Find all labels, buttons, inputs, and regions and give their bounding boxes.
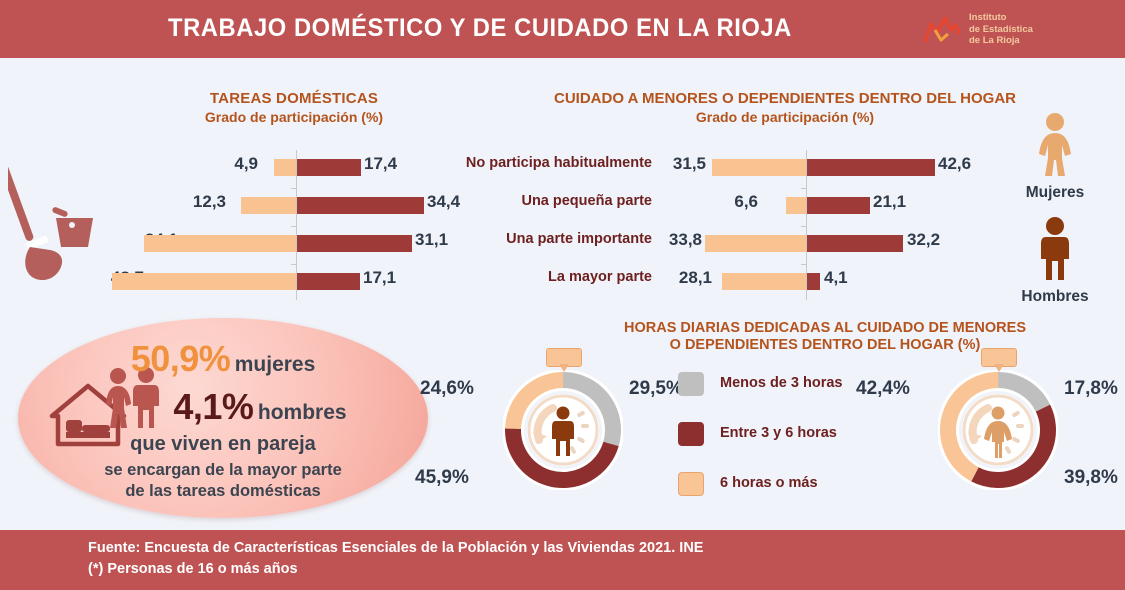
legend-label-menos3: Menos de 3 horas [720,375,842,391]
donut-chart-hombres: 24,6% 29,5% 45,9% [503,370,623,490]
donut-mujeres-svg [938,370,1058,490]
bar-row: 34,1 31,1 [120,226,440,260]
bar-chart-tareas-domesticas: 4,9 17,4 12,3 34,4 34,1 31,1 48,7 17,1 [120,148,440,303]
page-header: TRABAJO DOMÉSTICO Y DE CUIDADO EN LA RIO… [0,0,1125,58]
bar-value-women: 12,3 [150,192,226,212]
callout-word-men: hombres [258,401,347,424]
bar-category-label: La mayor parte [430,269,652,285]
chart-subtitle-tareas: Grado de participación (%) [134,109,454,125]
chart-title-tareas-main: TAREAS DOMÉSTICAS [134,90,454,107]
logo: Instituto de Estadística de La Rioja [923,12,1053,48]
callout-word-women: mujeres [235,353,316,376]
legend-swatch-entre36 [678,422,704,446]
logo-line-2: de Estadística [969,24,1033,36]
callout-line-4a: se encargan de la mayor parte [18,460,428,481]
bar-value-men: 21,1 [873,192,906,212]
donut-marker-tag [981,348,1017,367]
bar-men [807,273,820,290]
chart-title-horas-line1: HORAS DIARIAS DEDICADAS AL CUIDADO DE ME… [560,320,1090,337]
bar-men [297,273,360,290]
legend-label-6mas: 6 horas o más [720,475,818,491]
bar-women [712,159,806,176]
bar-row: 48,7 17,1 [120,264,440,298]
callout-pct-men: 4,1% [173,386,253,427]
legend-swatch-6mas [678,472,704,496]
bar-women [722,273,806,290]
chart-title-cuidado: CUIDADO A MENORES O DEPENDIENTES DENTRO … [500,90,1070,125]
callout-line-men: 4,1% hombres [92,386,428,428]
gender-legend-men-label: Hombres [995,288,1115,306]
bar-category-label: Una parte importante [430,231,652,247]
bar-men [807,159,935,176]
bar-women [144,235,296,252]
chart-subtitle-cuidado: Grado de participación (%) [500,109,1070,125]
donut-label-entre36: 39,8% [1064,467,1118,489]
donut-chart-mujeres: 42,4% 17,8% 39,8% [938,370,1058,490]
footer-note: (*) Personas de 16 o más años [88,561,298,577]
bar-row: Una pequeña parte 6,6 21,1 [430,188,990,222]
bar-men [297,235,412,252]
footer-source: Fuente: Encuesta de Características Esen… [88,540,703,556]
bar-women [786,197,806,214]
legend-item-6mas: 6 horas o más [678,472,878,498]
bar-women [112,273,296,290]
bar-value-women: 6,6 [714,192,758,212]
bar-value-women: 31,5 [660,154,706,174]
bar-row: 12,3 34,4 [120,188,440,222]
logo-text: Instituto de Estadística de La Rioja [969,12,1033,47]
page-title: TRABAJO DOMÉSTICO Y DE CUIDADO EN LA RIO… [168,14,792,43]
woman-icon [1033,112,1077,178]
gender-legend-women-label: Mujeres [995,184,1115,202]
bar-men [297,197,424,214]
bar-value-women: 33,8 [656,230,702,250]
page-footer: Fuente: Encuesta de Características Esen… [0,530,1125,590]
donut-label-entre36: 45,9% [415,467,469,489]
callout-line-4: se encargan de la mayor parte de las tar… [18,460,428,502]
legend-swatch-menos3 [678,372,704,396]
bar-row: No participa habitualmente 31,5 42,6 [430,150,990,184]
highlight-callout: 50,9% mujeres 4,1% hombres que viven en … [18,318,428,518]
bar-women [241,197,296,214]
broom-bucket-icon [8,155,138,285]
callout-line-women: 50,9% mujeres [18,338,428,380]
donut-marker-tag [546,348,582,367]
logo-line-3: de La Rioja [969,35,1033,47]
donut-label-6mas: 24,6% [420,378,474,400]
callout-pct-women: 50,9% [131,338,231,379]
bar-row: La mayor parte 28,1 4,1 [430,264,990,298]
gender-legend: Mujeres Hombres [995,112,1115,307]
legend-item-menos3: Menos de 3 horas [678,372,878,398]
bar-value-men: 4,1 [824,268,848,288]
bar-chart-cuidado-menores: No participa habitualmente 31,5 42,6 Una… [430,148,990,303]
bar-category-label: No participa habitualmente [430,155,652,171]
man-icon [1033,216,1077,282]
bar-value-women: 4,9 [186,154,258,174]
bar-value-men: 17,1 [363,268,396,288]
bar-women [274,159,296,176]
bar-row: Una parte importante 33,8 32,2 [430,226,990,260]
bar-value-women: 28,1 [666,268,712,288]
legend-item-entre36: Entre 3 y 6 horas [678,422,878,448]
bar-men [807,235,903,252]
donut-label-menos3: 17,8% [1064,378,1118,400]
callout-line-3: que viven en pareja [18,433,428,456]
bar-category-label: Una pequeña parte [430,193,652,209]
bar-value-men: 17,4 [364,154,397,174]
donut-label-menos3: 29,5% [629,378,683,400]
chart-title-cuidado-main: CUIDADO A MENORES O DEPENDIENTES DENTRO … [500,90,1070,107]
logo-zigzag-icon [923,14,965,46]
bar-value-men: 32,2 [907,230,940,250]
donut-hombres-svg [503,370,623,490]
bar-value-men: 42,6 [938,154,971,174]
logo-line-1: Instituto [969,12,1033,24]
bar-men [297,159,361,176]
chart-title-tareas: TAREAS DOMÉSTICAS Grado de participación… [134,90,454,125]
bar-women [705,235,806,252]
bar-row: 4,9 17,4 [120,150,440,184]
legend-label-entre36: Entre 3 y 6 horas [720,425,837,441]
bar-men [807,197,870,214]
callout-line-4b: de las tareas domésticas [18,481,428,502]
